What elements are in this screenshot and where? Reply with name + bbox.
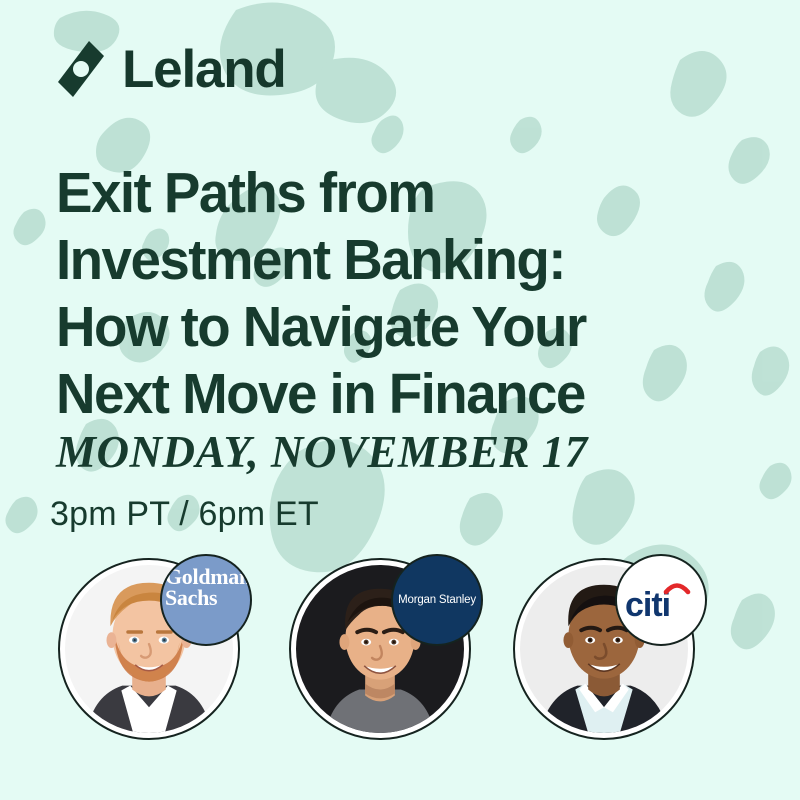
- morgan-stanley-logo-icon: Morgan Stanley: [391, 554, 483, 646]
- headline-line-3: How to Navigate Your: [56, 294, 728, 361]
- leland-diamond-icon: [58, 41, 104, 97]
- page-title: Exit Paths from Investment Banking: How …: [56, 160, 756, 428]
- speaker-1: Goldman Sachs: [58, 558, 248, 748]
- headline-line-1: Exit Paths from: [56, 160, 728, 227]
- badge-line-1: Morgan Stanley: [398, 594, 476, 606]
- event-date: MONDAY, NOVEMBER 17: [56, 430, 588, 475]
- svg-text:citi: citi: [625, 586, 670, 623]
- speaker-avatar-row: Goldman Sachs: [55, 558, 755, 758]
- event-time: 3pm PT / 6pm ET: [50, 497, 319, 531]
- webinar-promo-poster: Leland Exit Paths from Investment Bankin…: [0, 0, 800, 800]
- brand-wordmark: Leland: [122, 43, 286, 96]
- brand-logo: Leland: [58, 38, 286, 100]
- speaker-2: Morgan Stanley: [289, 558, 479, 748]
- goldman-sachs-logo-icon: Goldman Sachs: [160, 554, 252, 646]
- citi-logo-icon: citi: [615, 554, 707, 646]
- headline-line-2: Investment Banking:: [56, 227, 728, 294]
- speaker-3: citi: [513, 558, 703, 748]
- headline-line-4: Next Move in Finance: [56, 361, 728, 428]
- badge-line-2: Sachs: [165, 585, 217, 610]
